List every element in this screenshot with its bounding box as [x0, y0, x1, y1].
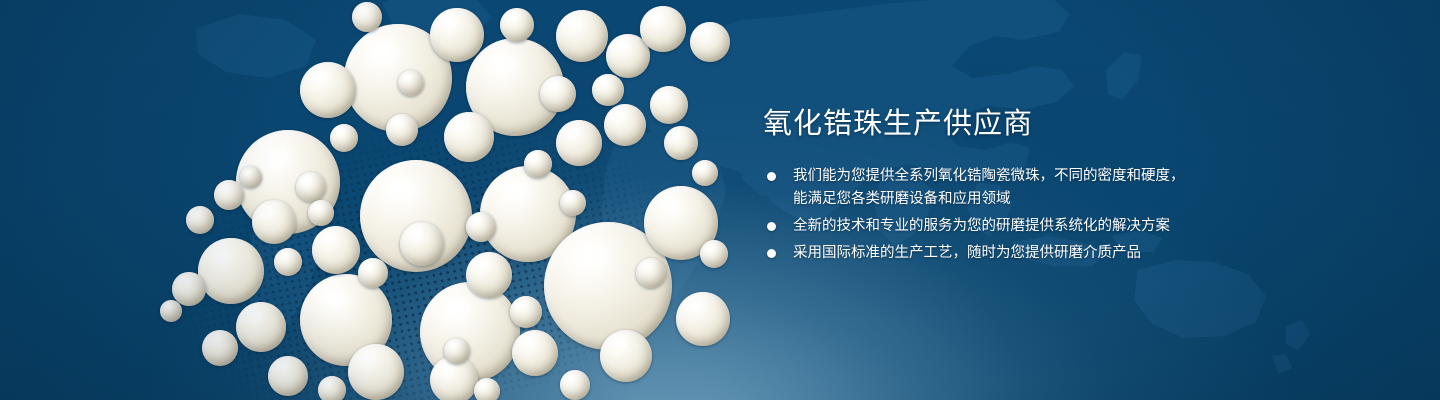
hero-banner: 氧化锆珠生产供应商 我们能为您提供全系列氧化锆陶瓷微珠，不同的密度和硬度， 能满… [0, 0, 1440, 400]
vignette-overlay [0, 0, 1440, 400]
